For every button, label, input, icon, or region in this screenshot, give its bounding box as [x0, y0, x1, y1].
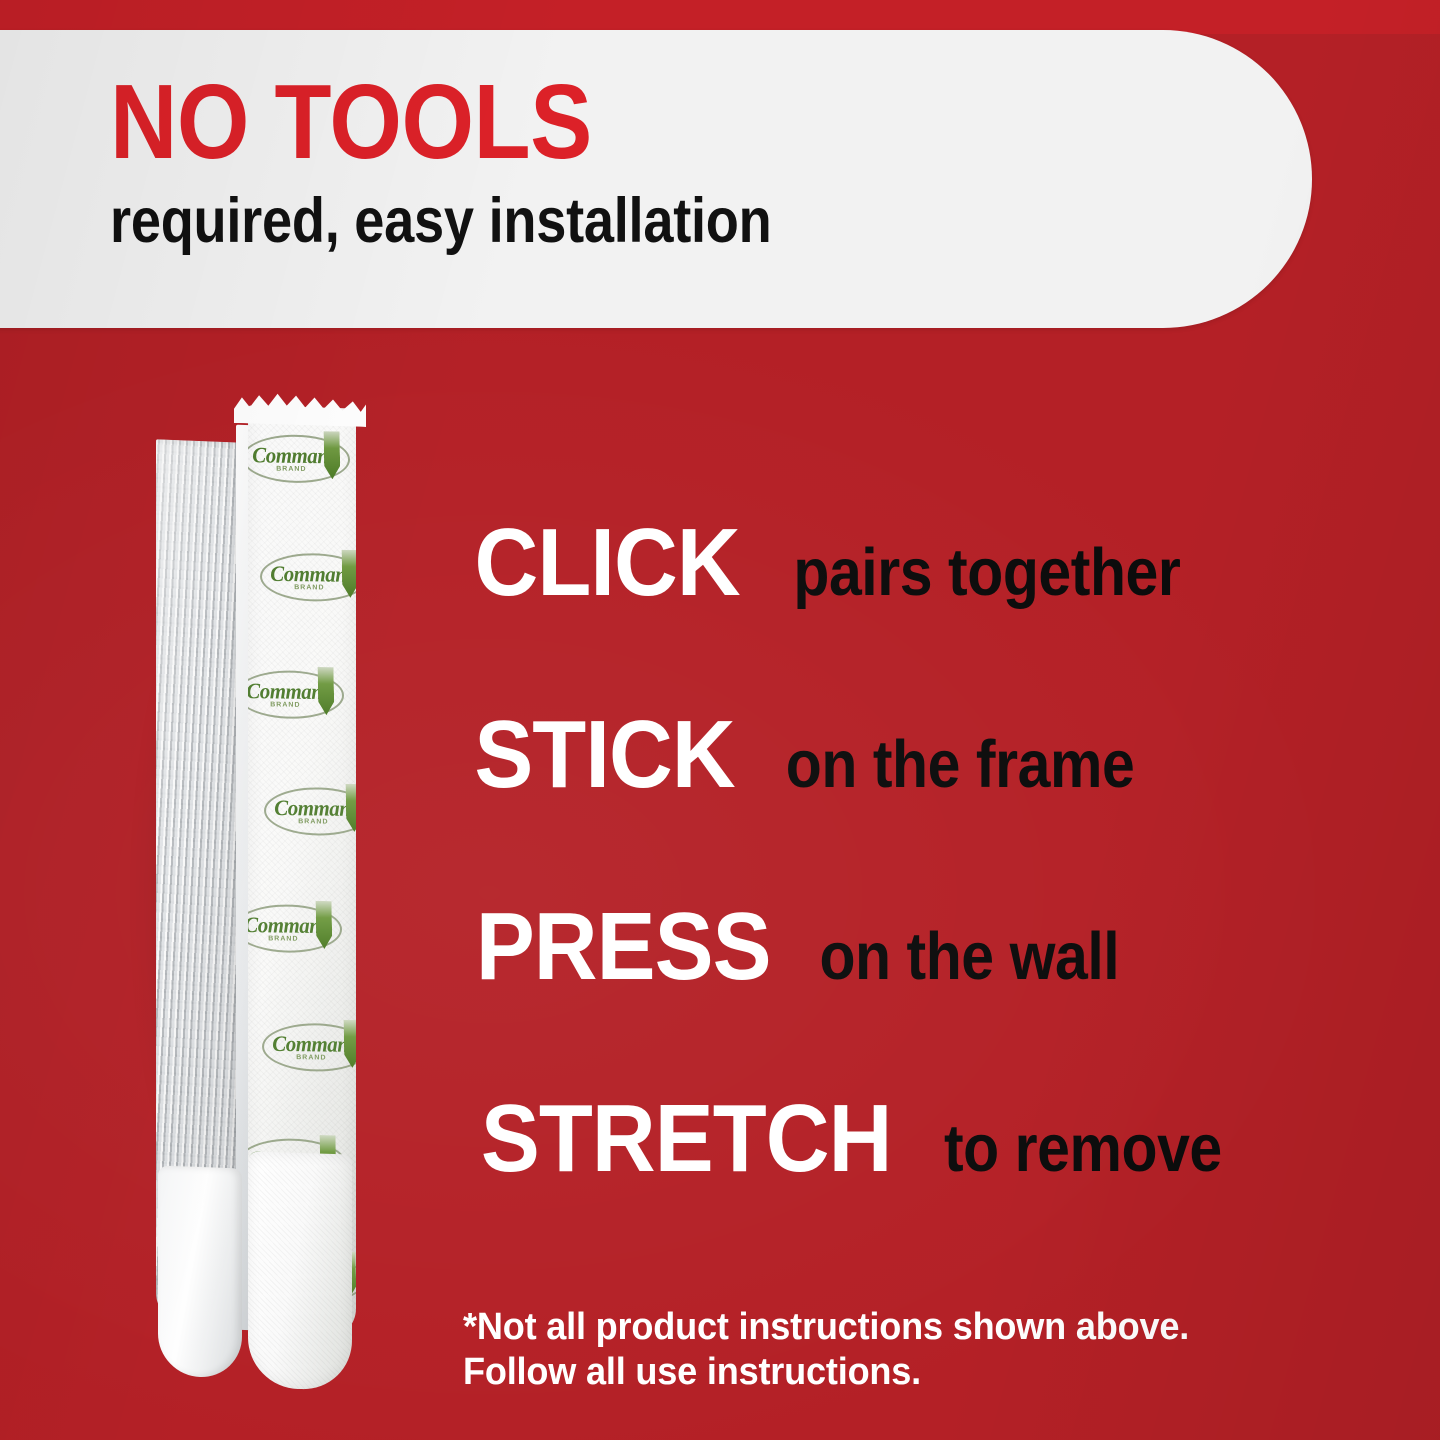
logo-brandline: BRAND: [296, 1054, 326, 1061]
footnote: *Not all product instructions shown abov…: [463, 1305, 1318, 1395]
footnote-line-2: Follow all use instructions.: [463, 1350, 1318, 1395]
step-descriptor: pairs together: [794, 534, 1181, 611]
logo-brandline: BRAND: [294, 584, 324, 591]
header-banner-content: NO TOOLS required, easy installation: [110, 72, 1170, 253]
step-press: PRESS on the wall: [463, 892, 1363, 1084]
logo-brandline: BRAND: [276, 466, 306, 473]
logo-brandline: BRAND: [298, 818, 328, 825]
promo-graphic: NO TOOLS required, easy installation Com…: [0, 0, 1440, 1440]
step-keyword: STRETCH: [481, 1084, 892, 1194]
step-descriptor: on the wall: [820, 918, 1120, 995]
torn-top-edge: [234, 389, 366, 427]
footnote-line-1: *Not all product instructions shown abov…: [463, 1305, 1318, 1350]
command-logo-icon: Command BRAND: [248, 428, 356, 485]
step-keyword: CLICK: [475, 508, 740, 618]
step-descriptor: on the frame: [786, 726, 1135, 803]
page-title: NO TOOLS: [110, 72, 1043, 174]
command-logo-icon: Command BRAND: [248, 898, 348, 955]
page-subtitle: required, easy installation: [110, 190, 1022, 253]
product-image: Command BRAND Command BRAND Command BRAN…: [148, 385, 373, 1395]
pull-tab-right: [248, 1151, 352, 1390]
instruction-steps: CLICK pairs together STICK on the frame …: [463, 508, 1363, 1276]
step-stretch: STRETCH to remove: [463, 1084, 1363, 1276]
logo-brandline: BRAND: [268, 935, 298, 942]
command-logo-icon: Command BRAND: [256, 1017, 356, 1074]
command-logo-icon: Command BRAND: [258, 781, 356, 838]
header-banner: NO TOOLS required, easy installation: [0, 30, 1312, 328]
step-keyword: PRESS: [476, 892, 771, 1002]
logo-brandline: BRAND: [270, 701, 300, 708]
command-logo-icon: Command BRAND: [248, 664, 350, 721]
background-top-band: [0, 0, 1440, 34]
step-click: CLICK pairs together: [463, 508, 1363, 700]
pull-tab-left: [158, 1166, 242, 1379]
step-stick: STICK on the frame: [463, 700, 1363, 892]
command-logo-icon: Command BRAND: [254, 547, 356, 604]
step-descriptor: to remove: [944, 1110, 1222, 1187]
step-keyword: STICK: [474, 700, 734, 810]
